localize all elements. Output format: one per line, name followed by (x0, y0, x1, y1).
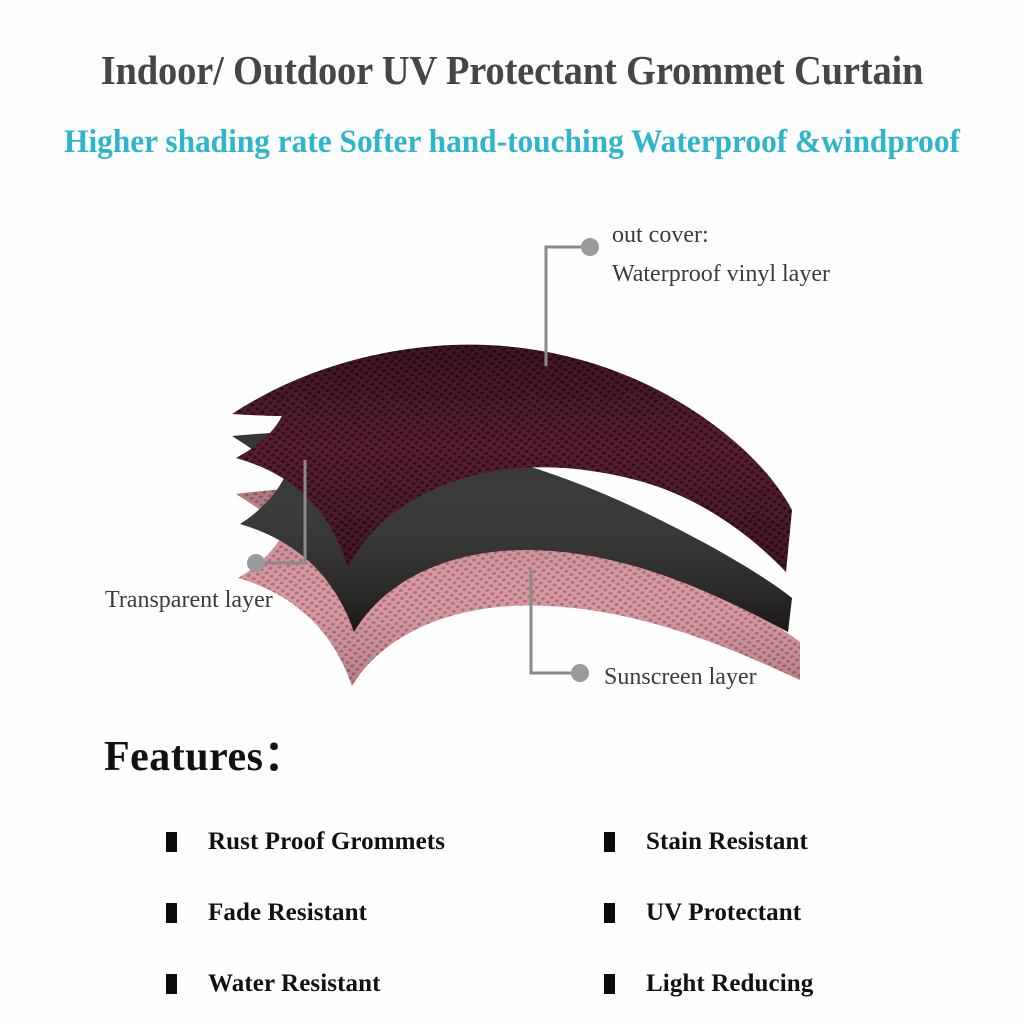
bullet-square-icon (604, 903, 615, 923)
bullet-square-icon (166, 903, 177, 923)
callout-transparent-layer: Transparent layer (105, 581, 273, 620)
callout-out-cover-line1: out cover: (612, 216, 830, 255)
feature-label: Light Reducing (646, 970, 813, 998)
page-subtitle: Higher shading rate Softer hand-touching… (26, 124, 999, 161)
list-item: Water Resistant (166, 948, 445, 1019)
callout-out-cover: out cover: Waterproof vinyl layer (612, 216, 830, 294)
product-infographic: Indoor/ Outdoor UV Protectant Grommet Cu… (0, 0, 1024, 1024)
callout-out-cover-line2: Waterproof vinyl layer (612, 255, 830, 294)
list-item: Fade Resistant (166, 877, 445, 948)
callout-sunscreen-layer-label: Sunscreen layer (604, 658, 757, 697)
features-column-left: Rust Proof Grommets Fade Resistant Water… (166, 806, 445, 1019)
features-column-right: Stain Resistant UV Protectant Light Redu… (604, 806, 813, 1019)
feature-label: Stain Resistant (646, 828, 808, 856)
bullet-square-icon (166, 974, 177, 994)
bullet-square-icon (604, 832, 615, 852)
callout-sunscreen-layer: Sunscreen layer (604, 658, 757, 697)
list-item: Stain Resistant (604, 806, 813, 877)
leader-out-cover (546, 238, 599, 366)
list-item: Light Reducing (604, 948, 813, 1019)
fabric-layers-illustration (0, 180, 1024, 710)
features-list: Rust Proof Grommets Fade Resistant Water… (0, 806, 1024, 1006)
feature-label: Fade Resistant (208, 899, 367, 927)
page-title: Indoor/ Outdoor UV Protectant Grommet Cu… (31, 46, 994, 94)
bullet-square-icon (166, 832, 177, 852)
features-heading: Features： (104, 722, 306, 783)
list-item: Rust Proof Grommets (166, 806, 445, 877)
feature-label: Water Resistant (208, 970, 381, 998)
bullet-square-icon (604, 974, 615, 994)
callout-transparent-layer-label: Transparent layer (105, 581, 273, 620)
list-item: UV Protectant (604, 877, 813, 948)
feature-label: UV Protectant (646, 899, 801, 927)
feature-label: Rust Proof Grommets (208, 828, 445, 856)
